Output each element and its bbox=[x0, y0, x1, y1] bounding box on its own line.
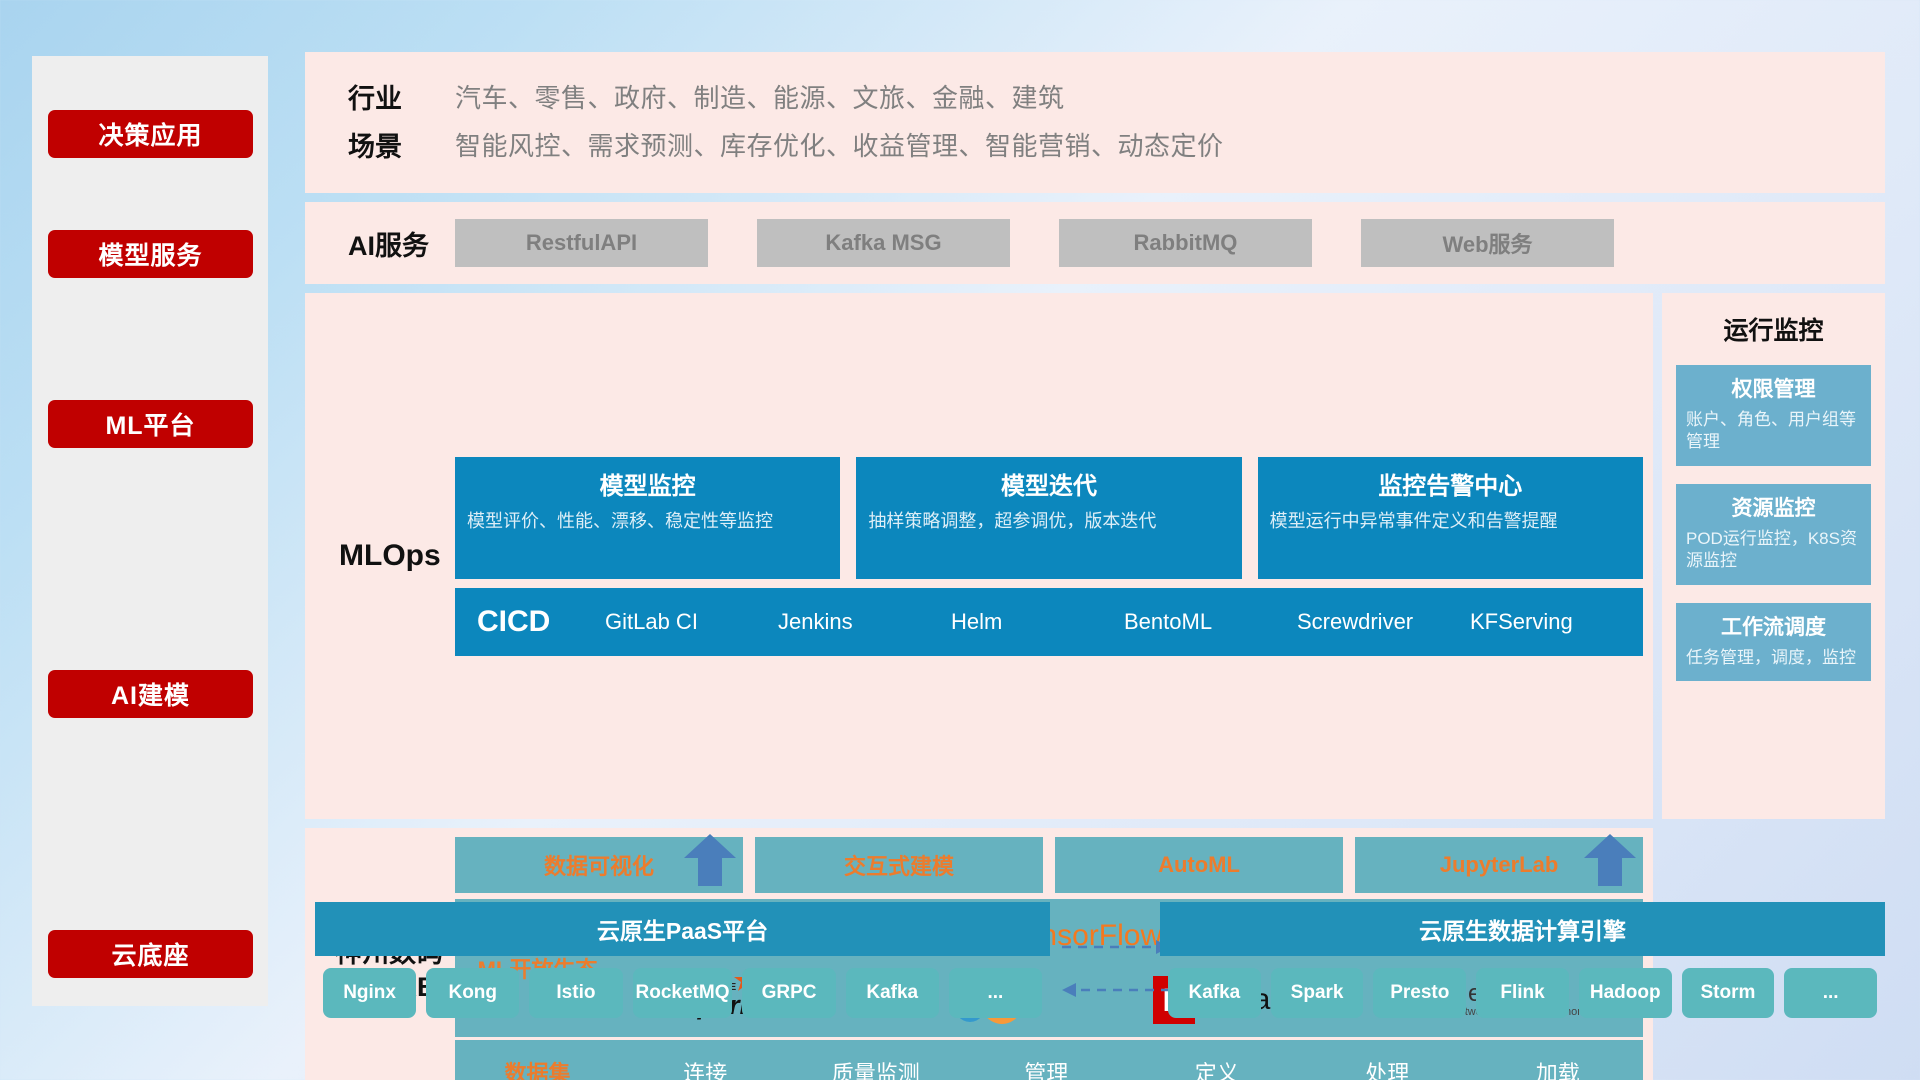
industry-values: 汽车、零售、政府、制造、能源、文旅、金融、建筑 bbox=[455, 78, 1065, 115]
service-label: RestfulAPI bbox=[526, 230, 637, 256]
paas-chip-kafka[interactable]: Kafka bbox=[846, 968, 939, 1018]
platform-left: MLOps 模型监控 模型评价、性能、漂移、稳定性等监控 模型迭代 抽样策略调整… bbox=[305, 293, 1653, 819]
service-label: Web服务 bbox=[1442, 227, 1532, 259]
cloud-native-paas-block: 云原生PaaS平台 Nginx Kong Istio RocketMQ GRPC… bbox=[315, 902, 1050, 1028]
paas-chip-kong[interactable]: Kong bbox=[426, 968, 519, 1018]
service-box-rabbitmq[interactable]: RabbitMQ bbox=[1059, 219, 1312, 267]
stage-label: AI建模 bbox=[111, 676, 190, 712]
data-engine-items: Kafka Spark Presto Flink Hadoop Storm ..… bbox=[1160, 956, 1885, 1028]
mlops-card-row: 模型监控 模型评价、性能、漂移、稳定性等监控 模型迭代 抽样策略调整，超参调优，… bbox=[455, 457, 1643, 579]
dataset-item-management[interactable]: 管理 bbox=[961, 1056, 1132, 1080]
mlops-label: MLOps bbox=[305, 539, 455, 573]
card-desc: 抽样策略调整，超参调优，版本迭代 bbox=[868, 509, 1229, 533]
data-engine-chip-more[interactable]: ... bbox=[1784, 968, 1877, 1018]
stage-label: 决策应用 bbox=[98, 116, 202, 152]
monitor-card-permission[interactable]: 权限管理 账户、角色、用户组等管理 bbox=[1676, 365, 1871, 466]
industry-row: 行业 汽车、零售、政府、制造、能源、文旅、金融、建筑 bbox=[305, 77, 1885, 116]
ai-service-items: RestfulAPI Kafka MSG RabbitMQ Web服务 bbox=[455, 219, 1885, 267]
mlops-card-model-iteration[interactable]: 模型迭代 抽样策略调整，超参调优，版本迭代 bbox=[856, 457, 1241, 579]
scenario-label: 场景 bbox=[305, 125, 455, 164]
paas-chip-more[interactable]: ... bbox=[949, 968, 1042, 1018]
ai-service-band: AI服务 RestfulAPI Kafka MSG RabbitMQ Web服务 bbox=[305, 202, 1885, 284]
stage-chip-cloud-base[interactable]: 云底座 bbox=[48, 930, 253, 978]
decision-application-band: 行业 汽车、零售、政府、制造、能源、文旅、金融、建筑 场景 智能风控、需求预测、… bbox=[305, 52, 1885, 193]
scenario-values: 智能风控、需求预测、库存优化、收益管理、智能营销、动态定价 bbox=[455, 126, 1224, 163]
card-desc: 模型评价、性能、漂移、稳定性等监控 bbox=[467, 509, 828, 533]
mlops-card-model-monitoring[interactable]: 模型监控 模型评价、性能、漂移、稳定性等监控 bbox=[455, 457, 840, 579]
data-engine-chip-spark[interactable]: Spark bbox=[1271, 968, 1364, 1018]
card-title: 模型监控 bbox=[467, 466, 828, 501]
card-desc: POD运行监控，K8S资源监控 bbox=[1686, 528, 1861, 573]
paas-title: 云原生PaaS平台 bbox=[315, 902, 1050, 956]
up-arrow-paas-icon bbox=[680, 832, 740, 886]
cicd-item-jenkins[interactable]: Jenkins bbox=[778, 610, 951, 634]
cicd-title: CICD bbox=[477, 605, 605, 639]
paas-chip-grpc[interactable]: GRPC bbox=[742, 968, 835, 1018]
cicd-item-screwdriver[interactable]: Screwdriver bbox=[1297, 610, 1470, 634]
stage-label: 模型服务 bbox=[98, 236, 202, 272]
ai-service-label: AI服务 bbox=[305, 224, 455, 263]
cloud-native-data-engine-block: 云原生数据计算引擎 Kafka Spark Presto Flink Hadoo… bbox=[1160, 902, 1885, 1028]
data-engine-chip-storm[interactable]: Storm bbox=[1682, 968, 1775, 1018]
scenario-row: 场景 智能风控、需求预测、库存优化、收益管理、智能营销、动态定价 bbox=[305, 125, 1885, 164]
stage-label: 云底座 bbox=[111, 936, 189, 972]
platform-section: MLOps 模型监控 模型评价、性能、漂移、稳定性等监控 模型迭代 抽样策略调整… bbox=[305, 293, 1885, 819]
up-arrow-data-engine-icon bbox=[1580, 832, 1640, 886]
mlops-band: MLOps 模型监控 模型评价、性能、漂移、稳定性等监控 模型迭代 抽样策略调整… bbox=[305, 293, 1653, 819]
paas-chip-istio[interactable]: Istio bbox=[529, 968, 622, 1018]
monitor-card-workflow[interactable]: 工作流调度 任务管理，调度，监控 bbox=[1676, 603, 1871, 681]
stage-chip-model-service[interactable]: 模型服务 bbox=[48, 230, 253, 278]
dataset-items: 连接 质量监测 管理 定义 处理 加载 bbox=[620, 1056, 1643, 1080]
mlops-card-alert-center[interactable]: 监控告警中心 模型运行中异常事件定义和告警提醒 bbox=[1258, 457, 1643, 579]
dataset-item-quality-monitoring[interactable]: 质量监测 bbox=[791, 1056, 962, 1080]
architecture-diagram: 决策应用 模型服务 ML平台 AI建模 云底座 行业 汽车、零售、政府、制造、能… bbox=[0, 0, 1920, 1080]
data-engine-title: 云原生数据计算引擎 bbox=[1160, 902, 1885, 956]
service-label: RabbitMQ bbox=[1134, 230, 1238, 256]
service-box-web[interactable]: Web服务 bbox=[1361, 219, 1614, 267]
cicd-items: GitLab CI Jenkins Helm BentoML Screwdriv… bbox=[605, 610, 1643, 634]
card-desc: 账户、角色、用户组等管理 bbox=[1686, 409, 1861, 454]
cicd-item-kfserving[interactable]: KFServing bbox=[1470, 610, 1643, 634]
data-engine-chip-kafka[interactable]: Kafka bbox=[1168, 968, 1261, 1018]
dataset-item-loading[interactable]: 加载 bbox=[1473, 1056, 1644, 1080]
cicd-item-gitlab-ci[interactable]: GitLab CI bbox=[605, 610, 778, 634]
cicd-bar: CICD GitLab CI Jenkins Helm BentoML Scre… bbox=[455, 588, 1643, 656]
card-title: 资源监控 bbox=[1686, 492, 1861, 522]
stage-label: ML平台 bbox=[105, 406, 195, 442]
data-engine-chip-flink[interactable]: Flink bbox=[1476, 968, 1569, 1018]
data-engine-chip-presto[interactable]: Presto bbox=[1373, 968, 1466, 1018]
stage-chip-ml-platform[interactable]: ML平台 bbox=[48, 400, 253, 448]
dataset-item-connect[interactable]: 连接 bbox=[620, 1056, 791, 1080]
card-title: 工作流调度 bbox=[1686, 611, 1861, 641]
dataset-label: 数据集 bbox=[455, 1056, 620, 1080]
dataset-item-definition[interactable]: 定义 bbox=[1132, 1056, 1303, 1080]
industry-label: 行业 bbox=[305, 77, 455, 116]
card-desc: 任务管理，调度，监控 bbox=[1686, 647, 1861, 669]
card-title: 模型迭代 bbox=[868, 466, 1229, 501]
monitoring-panel-title: 运行监控 bbox=[1676, 311, 1871, 347]
service-box-kafka-msg[interactable]: Kafka MSG bbox=[757, 219, 1010, 267]
card-title: 监控告警中心 bbox=[1270, 466, 1631, 501]
paas-chip-nginx[interactable]: Nginx bbox=[323, 968, 416, 1018]
mlops-body: 模型监控 模型评价、性能、漂移、稳定性等监控 模型迭代 抽样策略调整，超参调优，… bbox=[455, 457, 1653, 656]
cicd-item-bentoml[interactable]: BentoML bbox=[1124, 610, 1297, 634]
paas-items: Nginx Kong Istio RocketMQ GRPC Kafka ... bbox=[315, 956, 1050, 1028]
runtime-monitoring-panel: 运行监控 权限管理 账户、角色、用户组等管理 资源监控 POD运行监控，K8S资… bbox=[1662, 293, 1885, 819]
service-label: Kafka MSG bbox=[825, 230, 941, 256]
stage-rail bbox=[32, 56, 268, 1006]
stage-chip-decision-app[interactable]: 决策应用 bbox=[48, 110, 253, 158]
main-column: 行业 汽车、零售、政府、制造、能源、文旅、金融、建筑 场景 智能风控、需求预测、… bbox=[305, 52, 1885, 819]
data-engine-chip-hadoop[interactable]: Hadoop bbox=[1579, 968, 1672, 1018]
cicd-item-helm[interactable]: Helm bbox=[951, 610, 1124, 634]
dataset-item-processing[interactable]: 处理 bbox=[1302, 1056, 1473, 1080]
card-title: 权限管理 bbox=[1686, 373, 1861, 403]
service-box-restfulapi[interactable]: RestfulAPI bbox=[455, 219, 708, 267]
paas-chip-rocketmq[interactable]: RocketMQ bbox=[633, 968, 733, 1018]
card-desc: 模型运行中异常事件定义和告警提醒 bbox=[1270, 509, 1631, 533]
stage-chip-ai-modeling[interactable]: AI建模 bbox=[48, 670, 253, 718]
bidirectional-link-arrows-icon bbox=[1060, 935, 1170, 1005]
cloud-foundation-layer: 云原生PaaS平台 Nginx Kong Istio RocketMQ GRPC… bbox=[305, 880, 1885, 1055]
monitor-card-resource[interactable]: 资源监控 POD运行监控，K8S资源监控 bbox=[1676, 484, 1871, 585]
